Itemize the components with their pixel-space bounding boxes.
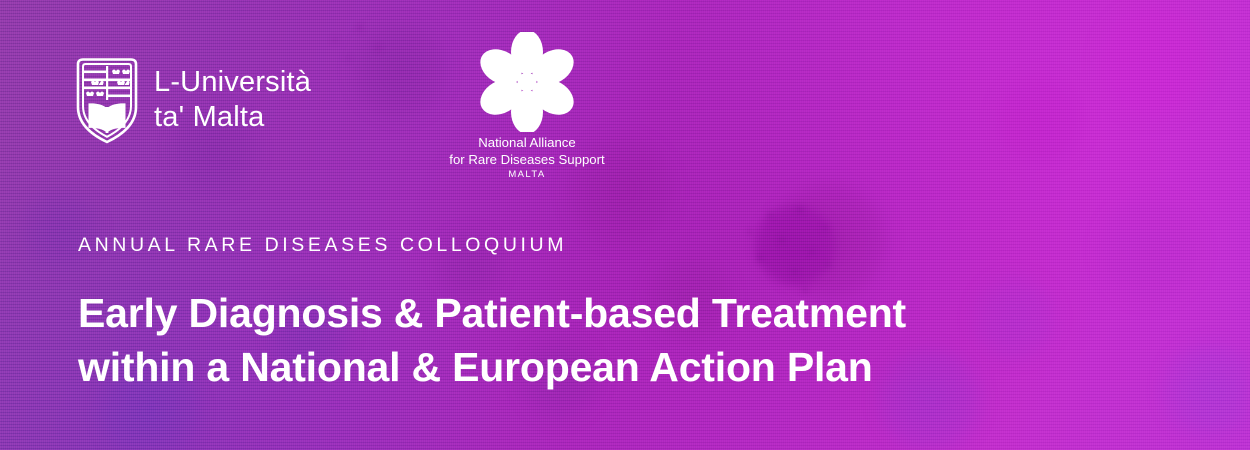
shield-crest-icon bbox=[74, 55, 140, 145]
university-wordmark: L-Università ta' Malta bbox=[154, 65, 311, 136]
six-petal-flower-icon bbox=[443, 32, 611, 132]
event-eyebrow: ANNUAL RARE DISEASES COLLOQUIUM bbox=[78, 236, 1078, 256]
logo-row: L-Università ta' Malta bbox=[0, 0, 1250, 190]
headline-block: ANNUAL RARE DISEASES COLLOQUIUM Early Di… bbox=[78, 236, 1078, 395]
national-alliance-logo: National Alliance for Rare Diseases Supp… bbox=[443, 32, 611, 180]
event-title: Early Diagnosis & Patient-based Treatmen… bbox=[78, 286, 1078, 395]
alliance-name: National Alliance for Rare Diseases Supp… bbox=[443, 135, 611, 168]
university-of-malta-logo: L-Università ta' Malta bbox=[74, 55, 311, 145]
alliance-country: MALTA bbox=[443, 169, 611, 180]
event-banner: L-Università ta' Malta bbox=[0, 0, 1250, 450]
